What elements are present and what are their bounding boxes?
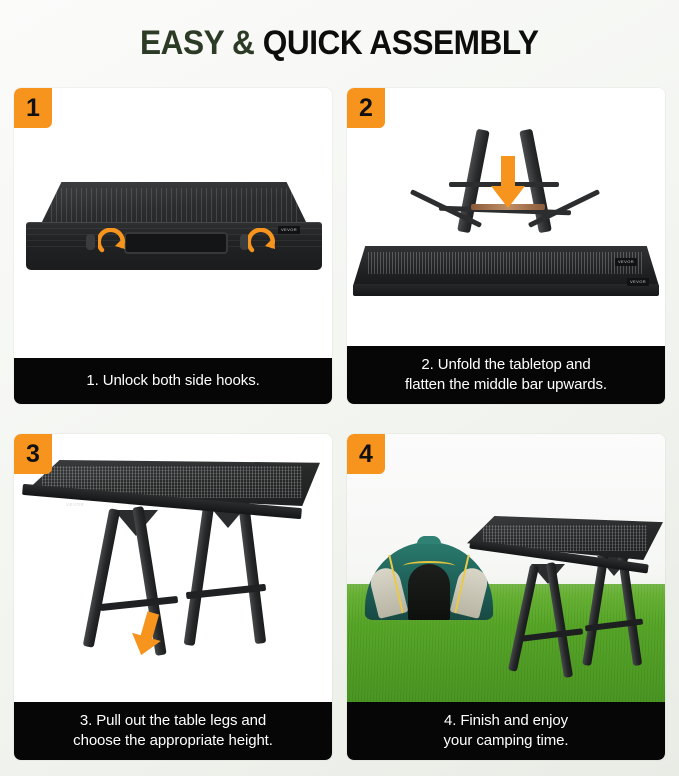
- rotate-arrow-icon: [248, 228, 278, 258]
- side-hook-left: [86, 234, 95, 250]
- tent-roof-vent: [417, 536, 441, 544]
- step-panel-2: 2 VEVOR: [347, 88, 665, 404]
- outdoor-camping-scene: [347, 434, 665, 702]
- table-top-mesh: [353, 246, 659, 286]
- step-badge-2: 2: [347, 88, 385, 128]
- step-image-1: VEVOR: [14, 88, 332, 358]
- caption-line-2: flatten the middle bar upwards.: [405, 375, 607, 395]
- brand-logo: VEVOR: [278, 226, 300, 234]
- brand-logo: VEVOR: [627, 278, 649, 286]
- step-caption-4: 4. Finish and enjoy your camping time.: [347, 702, 665, 760]
- caption-line-1: 3. Pull out the table legs and: [80, 711, 266, 731]
- leg-cross-rail-left: [521, 628, 583, 642]
- step-badge-4: 4: [347, 434, 385, 474]
- table-leg-3: [184, 496, 216, 646]
- assembled-table-illustration: VEVOR: [18, 452, 328, 668]
- folded-table-illustration: VEVOR: [26, 182, 322, 278]
- step-image-3: VEVOR: [14, 434, 332, 702]
- unfolded-top-illustration: VEVOR VEVOR: [353, 120, 659, 310]
- step-caption-2: 2. Unfold the tabletop and flatten the m…: [347, 346, 665, 404]
- step-caption-3: 3. Pull out the table legs and choose th…: [14, 702, 332, 760]
- down-arrow-icon: [491, 156, 525, 212]
- caption-line-2: choose the appropriate height.: [73, 731, 273, 751]
- table-top-frame-edge: [353, 284, 659, 296]
- assembly-instructions-page: EASY & QUICK ASSEMBLY 1: [0, 0, 679, 776]
- rotate-arrow-icon: [98, 228, 128, 258]
- table-leg-1: [83, 508, 121, 648]
- table-leg-1: [508, 564, 539, 672]
- step-badge-1: 1: [14, 88, 52, 128]
- step-panel-3: 3 VEVOR: [14, 434, 332, 760]
- brand-logo: VEVOR: [615, 258, 637, 266]
- caption-line-1: 2. Unfold the tabletop and: [421, 355, 590, 375]
- page-title-black-part: QUICK ASSEMBLY: [263, 24, 539, 62]
- caption-line-2: your camping time.: [444, 731, 569, 751]
- step-panel-4: 4: [347, 434, 665, 760]
- table-leg-3: [582, 552, 609, 666]
- step-badge-3: 3: [14, 434, 52, 474]
- page-title-green-part: EASY &: [140, 24, 254, 62]
- step-panel-1: 1: [14, 88, 332, 404]
- table-top-surface: [40, 182, 308, 226]
- caption-line-1: 4. Finish and enjoy: [444, 711, 568, 731]
- step-image-4: [347, 434, 665, 702]
- page-title: EASY & QUICK ASSEMBLY: [140, 22, 538, 64]
- caption-line-1: 1. Unlock both side hooks.: [86, 371, 259, 391]
- assembled-table-on-grass: [467, 516, 663, 686]
- step-caption-1: 1. Unlock both side hooks.: [14, 358, 332, 404]
- step-image-2: VEVOR VEVOR: [347, 88, 665, 358]
- carry-handle: [124, 232, 228, 254]
- brand-logo: VEVOR: [66, 502, 84, 508]
- steps-grid: 1: [14, 88, 665, 760]
- page-title-container: EASY & QUICK ASSEMBLY: [0, 22, 679, 64]
- tent-door-opening: [408, 564, 450, 620]
